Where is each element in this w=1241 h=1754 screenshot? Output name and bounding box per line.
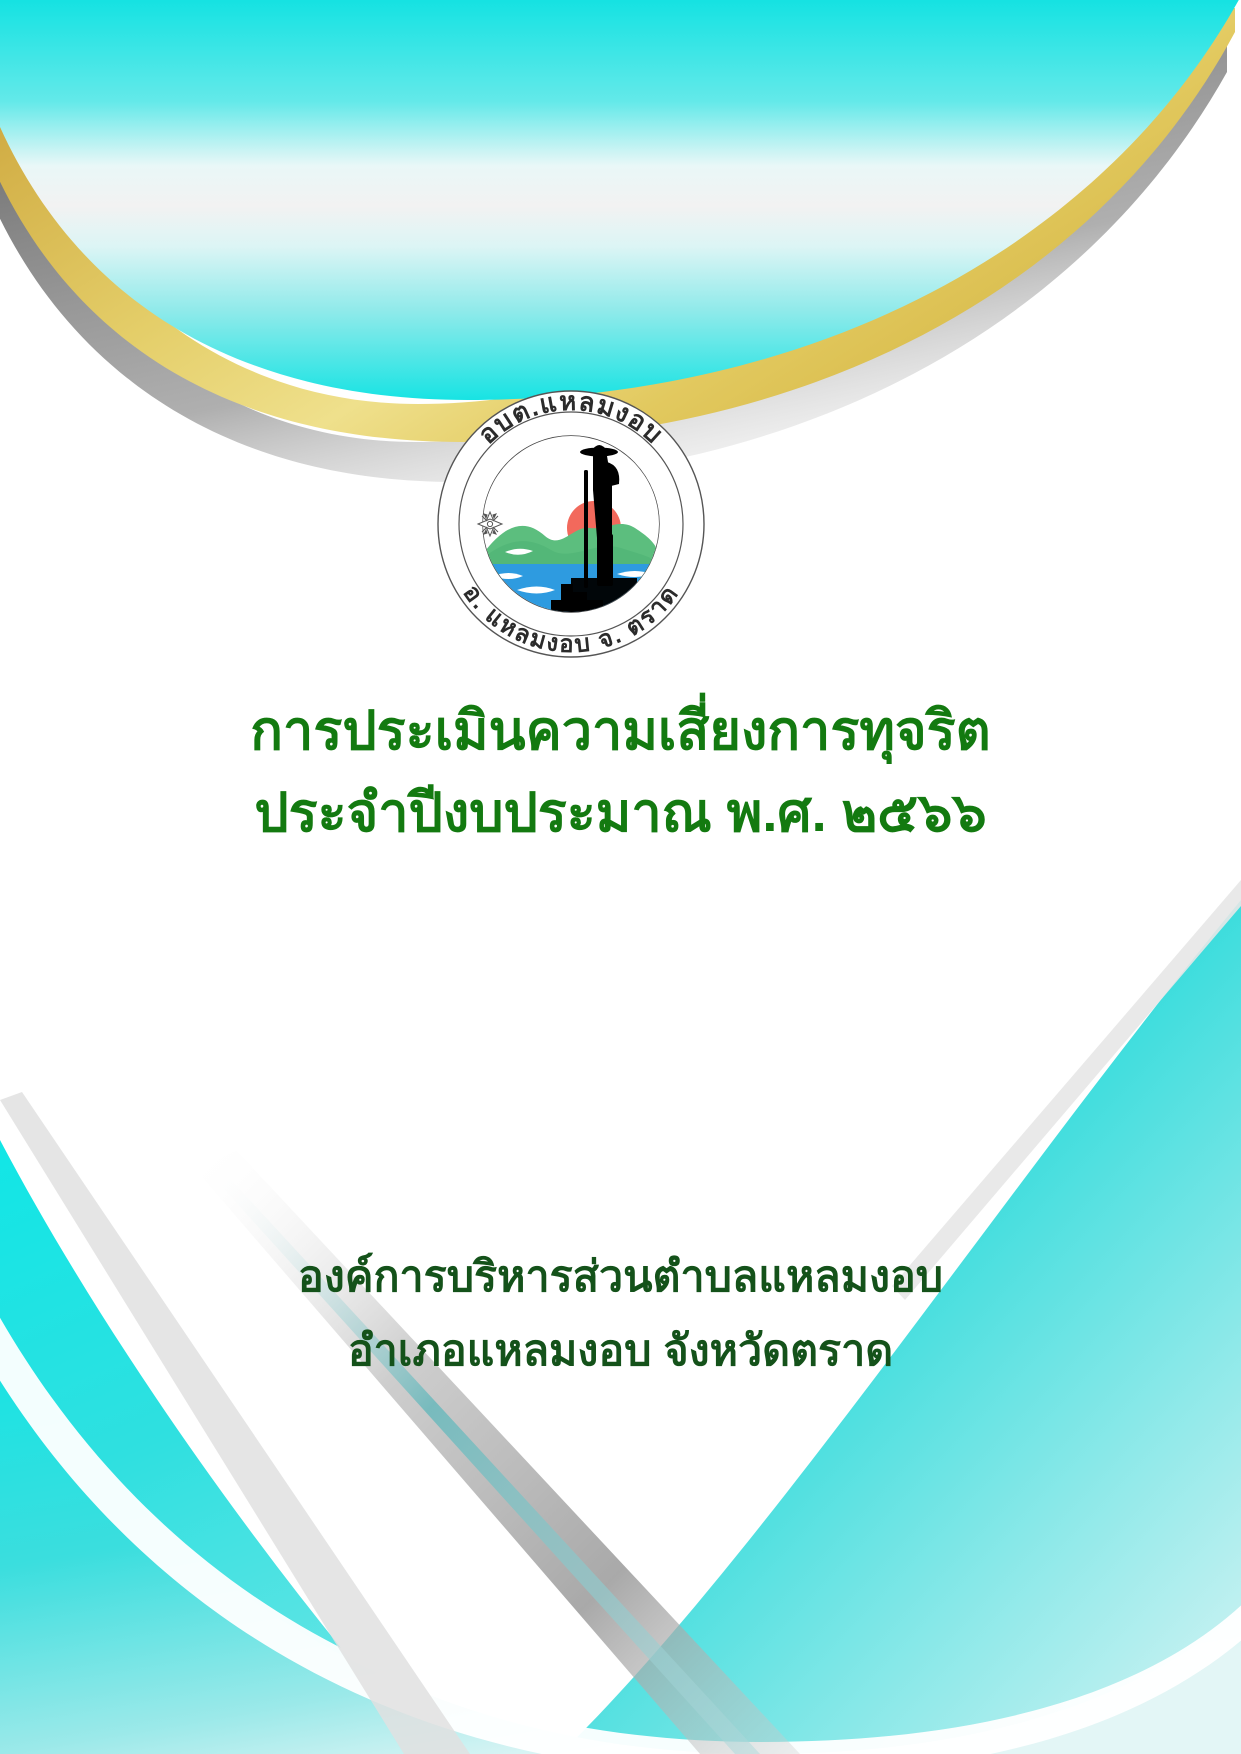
page-title: การประเมินความเสี่ยงการทุจริต ประจำปีงบป…: [0, 690, 1241, 854]
title-line-1: การประเมินความเสี่ยงการทุจริต: [0, 690, 1241, 772]
top-cyan-banner: [0, 0, 1241, 400]
bottom-cyan-bowl: [0, 1330, 1241, 1754]
bottom-banner-decoration: [0, 0, 1241, 1754]
footer-line-2: อำเภอแหลมงอบ จังหวัดตราด: [0, 1314, 1241, 1388]
organization-footer: องค์การบริหารส่วนตำบลแหลมงอบ อำเภอแหลมงอ…: [0, 1240, 1241, 1388]
logo-seal-svg: อบต.แหลมงอบ อ. แหลมงอบ จ. ตราด: [421, 378, 721, 670]
organization-logo: อบต.แหลมงอบ อ. แหลมงอบ จ. ตราด: [421, 378, 721, 670]
top-right-light-streak: [892, 880, 1241, 1300]
bottom-left-cyan-wedge: [0, 1140, 430, 1754]
top-gold-band: [0, 8, 1235, 442]
footer-line-1: องค์การบริหารส่วนตำบลแหลมงอบ: [0, 1240, 1241, 1314]
left-white-edge-shadow: [0, 1092, 470, 1754]
title-line-2: ประจำปีงบประมาณ พ.ศ. ๒๕๖๖: [0, 772, 1241, 854]
top-banner-decoration: [0, 0, 1241, 1754]
document-cover-page: อบต.แหลมงอบ อ. แหลมงอบ จ. ตราด การประเมิ…: [0, 0, 1241, 1754]
